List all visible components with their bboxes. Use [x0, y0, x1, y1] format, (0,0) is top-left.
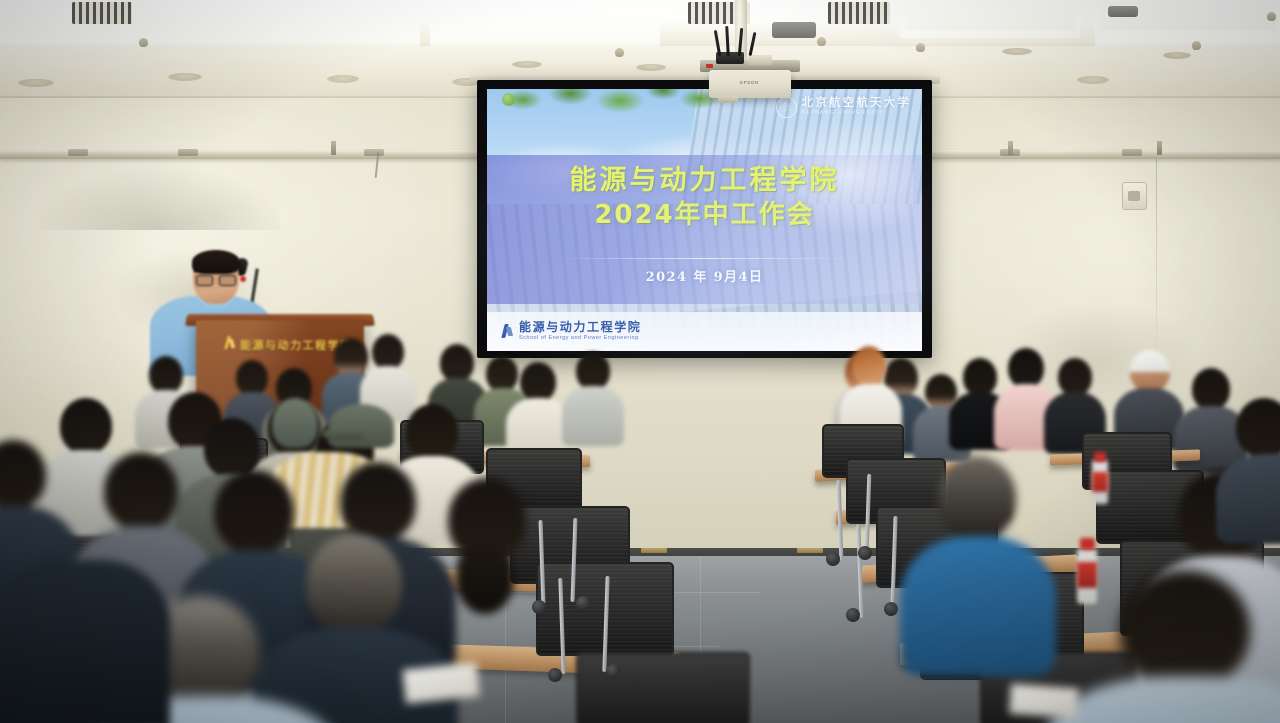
university-name-en: BEIHANG UNIVERSITY	[802, 111, 912, 116]
eyeglasses-icon	[196, 275, 236, 284]
wall-power-socket[interactable]	[1122, 182, 1147, 210]
chair-caster	[858, 546, 872, 560]
ceiling-downlight	[1077, 76, 1109, 84]
presentation-slide: ☉ 北京航空航天大学 BEIHANG UNIVERSITY 能源与动力工程学院 …	[487, 89, 922, 351]
sprinkler-head-icon	[615, 48, 624, 57]
slide-footer: 能源与动力工程学院 School of Energy and Power Eng…	[487, 312, 922, 351]
ceiling-light-panel	[0, 0, 420, 46]
rail-hook	[1157, 141, 1162, 155]
air-vent-grill-icon	[828, 2, 890, 24]
chair-caster	[532, 600, 546, 614]
ceiling-light-panel	[430, 0, 660, 46]
ceiling-downlight	[1002, 48, 1032, 55]
rail-clip	[364, 149, 384, 156]
chair-caster	[576, 596, 590, 610]
wall-seam	[1156, 152, 1157, 352]
slide-title-line-1: 能源与动力工程学院	[487, 165, 922, 198]
water-bottle-cap	[1094, 452, 1106, 462]
ceiling-diffuser	[1108, 6, 1138, 17]
ceiling-downlight	[327, 75, 359, 83]
projector-lens-icon	[718, 96, 738, 103]
rail-clip	[1122, 149, 1142, 156]
water-bottle-label	[1077, 562, 1097, 588]
projector-brand-label: EPSON	[740, 80, 759, 85]
sprinkler-head-icon	[916, 43, 925, 52]
school-mark-icon	[499, 323, 513, 339]
router-indicator	[706, 64, 713, 68]
chair-caster	[884, 602, 898, 616]
rail-hook	[1008, 141, 1013, 155]
speaker-hair	[192, 250, 240, 274]
lecture-hall-photo: ☉ 北京航空航天大学 BEIHANG UNIVERSITY 能源与动力工程学院 …	[0, 0, 1280, 723]
slide-foliage	[496, 89, 722, 131]
ceiling-downlight	[636, 64, 666, 71]
sprinkler-head-icon	[1192, 41, 1201, 50]
projection-screen: ☉ 北京航空航天大学 BEIHANG UNIVERSITY 能源与动力工程学院 …	[477, 80, 932, 358]
router-accessory-box	[748, 55, 772, 65]
slide-title: 能源与动力工程学院 2024年中工作会	[487, 165, 922, 232]
chair-caster	[548, 668, 562, 682]
ceiling-downlight	[18, 79, 54, 87]
chair-caster	[846, 608, 860, 622]
rail-clip	[178, 149, 198, 156]
ceiling-lamp	[905, 0, 1075, 30]
ceiling-diffuser	[772, 22, 816, 38]
chair-caster	[826, 552, 840, 566]
university-name-cn: 北京航空航天大学	[802, 98, 912, 110]
ceiling-downlight	[168, 73, 202, 81]
school-name-cn: 能源与动力工程学院	[519, 321, 641, 334]
school-name-en: School of Energy and Power Engineering	[519, 336, 641, 342]
ceiling-downlight	[1163, 52, 1191, 59]
air-vent-grill-icon	[72, 2, 132, 24]
microphone-indicator	[240, 276, 246, 282]
slide-title-line-2: 2024年中工作会	[487, 200, 922, 232]
ceiling-downlight	[512, 61, 542, 68]
chair-caster	[606, 664, 620, 678]
slide-divider	[557, 258, 853, 259]
slide-date: 2024 年 9月4日	[487, 266, 922, 285]
university-logo: ☉ 北京航空航天大学 BEIHANG UNIVERSITY	[776, 97, 912, 118]
wall-shadow	[40, 100, 280, 230]
rail-clip	[68, 149, 88, 156]
water-bottle-cap	[1080, 538, 1095, 550]
sprinkler-head-icon	[1267, 12, 1276, 21]
beihang-seal-icon: ☉	[776, 97, 797, 118]
school-mark-icon	[222, 336, 237, 351]
water-bottle-label	[1092, 472, 1108, 492]
paper-document	[1009, 684, 1079, 719]
sprinkler-head-icon	[139, 38, 148, 47]
rail-hook	[331, 141, 336, 155]
floor-marker	[641, 548, 667, 553]
sprinkler-head-icon	[817, 37, 826, 46]
floor-marker	[797, 548, 823, 553]
